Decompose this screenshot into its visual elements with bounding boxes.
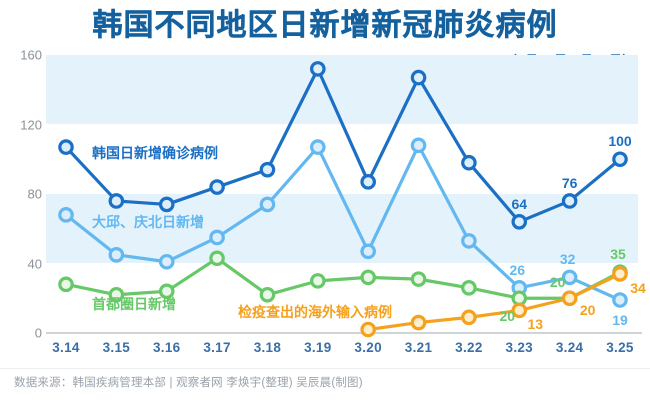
data-label-2-9: 20: [499, 308, 515, 324]
data-label-0-9: 64: [511, 196, 527, 212]
x-axis-labels: 3.143.153.163.173.183.193.203.213.223.23…: [46, 340, 638, 362]
series-marker-3-4[interactable]: [563, 292, 575, 304]
series-marker-2-3[interactable]: [211, 252, 223, 264]
data-label-0-10: 76: [562, 175, 578, 191]
data-label-2-11: 35: [610, 246, 626, 262]
data-label-2-10: 20: [550, 274, 566, 290]
y-tick-0: 0: [2, 326, 42, 341]
y-tick-160: 160: [2, 48, 42, 63]
series-marker-1-7[interactable]: [412, 139, 424, 151]
x-tick-3.25: 3.25: [590, 340, 650, 355]
series-marker-2-4[interactable]: [261, 289, 273, 301]
series-marker-1-3[interactable]: [211, 231, 223, 243]
series-marker-0-5[interactable]: [312, 63, 324, 75]
source-note: 数据来源：韩国疾病管理本部 | 观察者网 李焕宇(整理) 吴辰晨(制图): [14, 374, 363, 390]
data-label-3-9: 13: [527, 316, 543, 332]
series-marker-2-0[interactable]: [60, 278, 72, 290]
series-marker-0-4[interactable]: [261, 163, 273, 175]
series-marker-0-7[interactable]: [412, 71, 424, 83]
y-tick-40: 40: [2, 256, 42, 271]
series-label-capital: 首都圈日新增: [92, 294, 176, 314]
data-label-1-11: 19: [612, 312, 628, 328]
series-marker-2-5[interactable]: [312, 275, 324, 287]
series-marker-2-6[interactable]: [362, 271, 374, 283]
series-marker-2-9[interactable]: [513, 292, 525, 304]
data-label-1-10: 32: [560, 251, 576, 267]
series-marker-3-2[interactable]: [463, 311, 475, 323]
series-line-2: [66, 258, 620, 298]
series-marker-1-1[interactable]: [110, 249, 122, 261]
series-marker-0-9[interactable]: [513, 216, 525, 228]
series-marker-2-7[interactable]: [412, 273, 424, 285]
series-marker-0-3[interactable]: [211, 181, 223, 193]
y-axis-ticks: 04080120160: [0, 55, 42, 333]
title-block: 韩国不同地区日新增新冠肺炎病例: [0, 8, 650, 44]
series-label-daegu: 大邱、庆北日新增: [92, 212, 204, 232]
series-marker-1-8[interactable]: [463, 235, 475, 247]
series-marker-1-2[interactable]: [161, 256, 173, 268]
data-label-3-10: 20: [580, 302, 596, 318]
y-tick-120: 120: [2, 117, 42, 132]
series-marker-1-5[interactable]: [312, 141, 324, 153]
chart-series-canvas: [46, 55, 638, 333]
data-label-0-11: 100: [608, 133, 631, 149]
series-marker-2-8[interactable]: [463, 282, 475, 294]
series-marker-0-11[interactable]: [614, 153, 626, 165]
series-marker-1-6[interactable]: [362, 245, 374, 257]
series-marker-0-10[interactable]: [563, 195, 575, 207]
footer-divider: [0, 368, 650, 369]
data-label-1-9: 26: [509, 262, 525, 278]
series-marker-1-11[interactable]: [614, 294, 626, 306]
chart-page: 韩国不同地区日新增新冠肺炎病例 （3月14日-3月25日） 0408012016…: [0, 0, 650, 400]
series-marker-0-6[interactable]: [362, 176, 374, 188]
page-title: 韩国不同地区日新增新冠肺炎病例: [93, 8, 558, 44]
series-marker-3-5[interactable]: [614, 268, 626, 280]
series-marker-3-1[interactable]: [412, 316, 424, 328]
series-marker-1-0[interactable]: [60, 209, 72, 221]
series-marker-0-0[interactable]: [60, 141, 72, 153]
series-label-imported: 检疫查出的海外输入病例: [238, 302, 392, 322]
series-marker-0-1[interactable]: [110, 195, 122, 207]
y-tick-80: 80: [2, 187, 42, 202]
series-marker-1-4[interactable]: [261, 198, 273, 210]
series-label-national: 韩国日新增确诊病例: [92, 143, 218, 163]
data-label-3-11: 34: [630, 280, 646, 296]
series-marker-0-8[interactable]: [463, 157, 475, 169]
series-marker-3-0[interactable]: [362, 323, 374, 335]
series-marker-0-2[interactable]: [161, 198, 173, 210]
